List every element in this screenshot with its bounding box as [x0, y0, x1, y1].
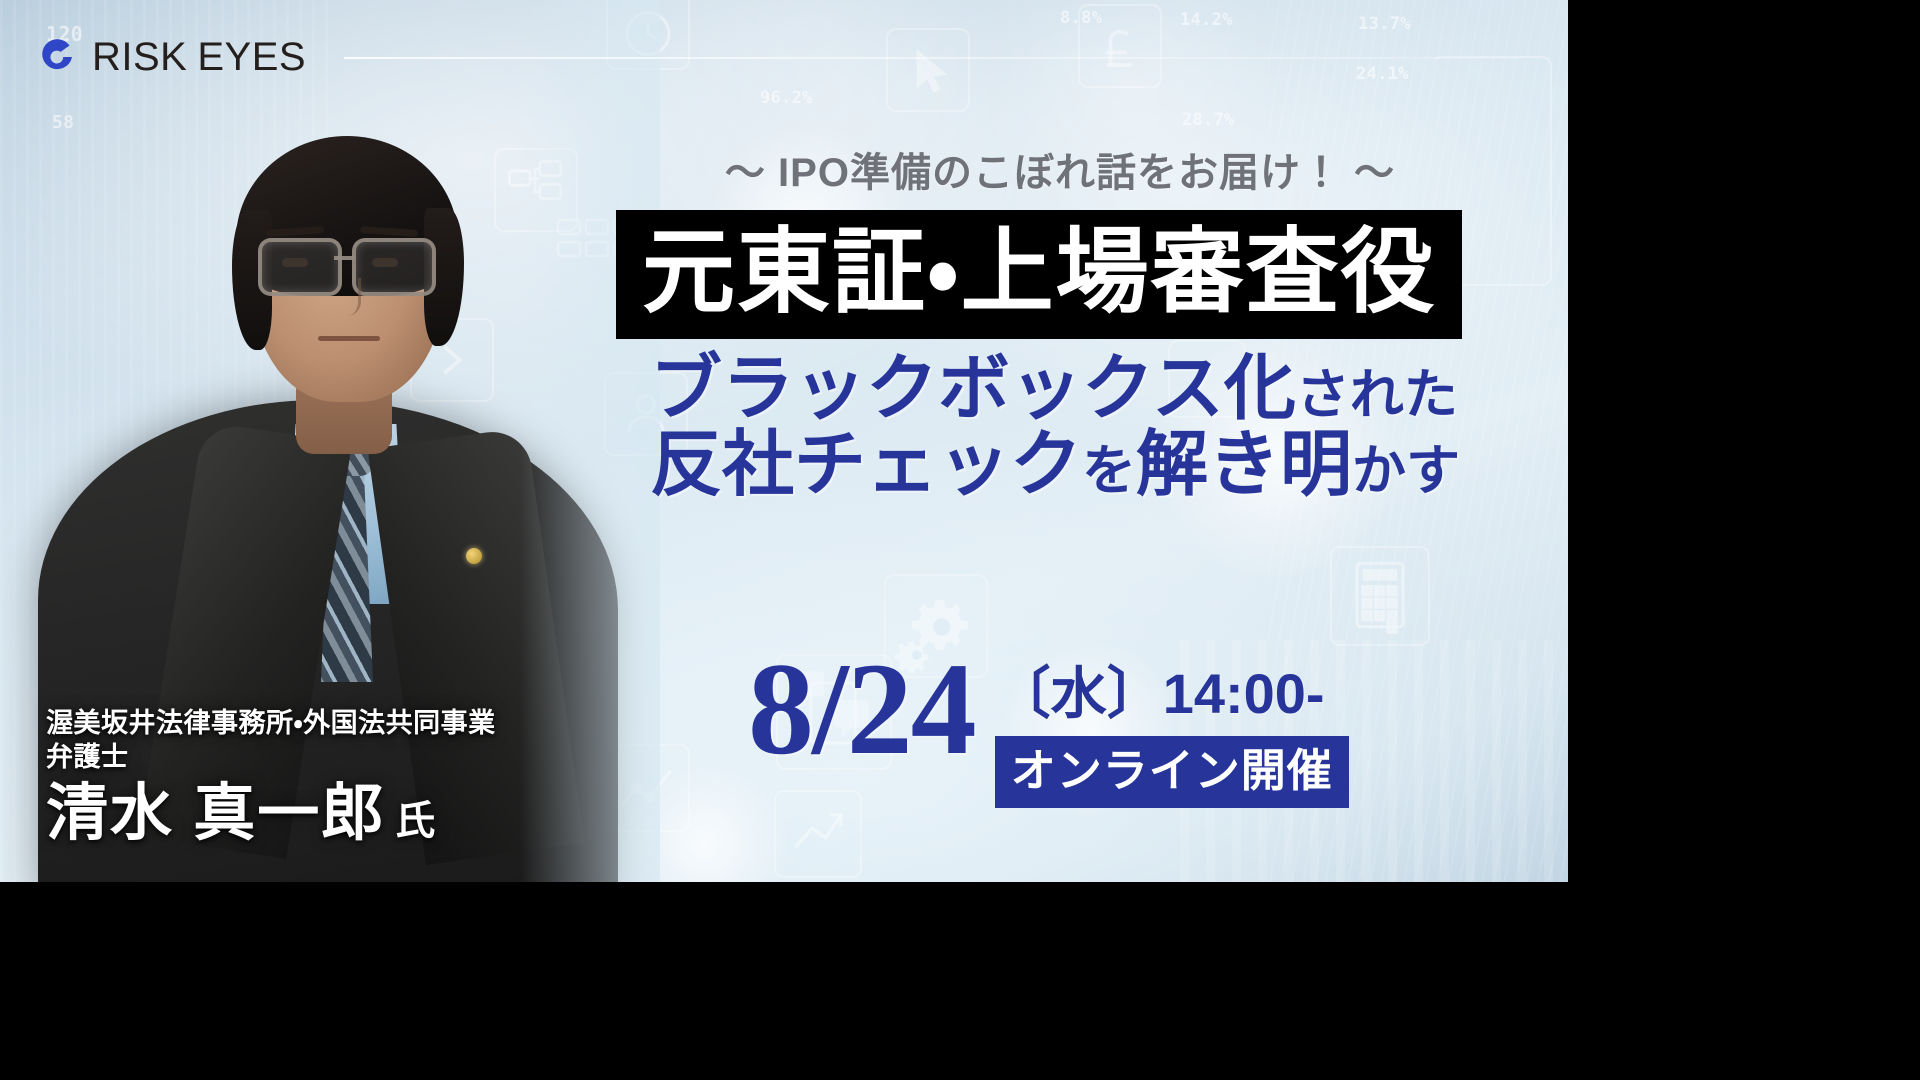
logo-word-risk: RISK — [92, 35, 187, 79]
subtitle-tokiaka-text: 解き明 — [1136, 425, 1352, 505]
portrait-eyeglass-bridge — [334, 256, 354, 260]
subtitle-sareta-text: された — [1296, 365, 1458, 425]
speaker-name: 清水 真一郎 — [46, 779, 385, 848]
speaker-role: 弁護士 — [46, 740, 496, 775]
event-schedule: 8/24 〔水〕14:00- オンライン開催 — [748, 648, 1349, 808]
decor-number: 24.1% — [1356, 64, 1409, 84]
logo-wordmark: RISKEYES — [92, 37, 306, 77]
portrait-lapel-pin — [466, 548, 482, 564]
event-day-and-time: 〔水〕14:00- — [995, 666, 1349, 722]
headline-title-bar: 元東証・上場審査役 — [616, 210, 1462, 339]
decor-number: 28.7% — [1182, 110, 1235, 130]
subtitle-hansha-check-text: 反社チェック — [650, 425, 1082, 505]
speaker-honorific: 氏 — [395, 799, 437, 843]
webinar-banner: 120 58 96.2% 8.8% 14.2% 13.7% 24.1% 28.7… — [0, 0, 1568, 882]
event-time-group: 〔水〕14:00- オンライン開催 — [995, 648, 1349, 808]
subtitle-blackbox-text: ブラックボックス化 — [650, 349, 1296, 429]
speaker-credit: 渥美坂井法律事務所・外国法共同事業 弁護士 清水 真一郎氏 — [46, 706, 496, 846]
calculator-icon — [1330, 546, 1430, 646]
cursor-arrow-icon — [886, 28, 970, 112]
decor-number: 96.2% — [760, 88, 813, 108]
headline-subtitle: ブラックボックス化された 反社チェックを解き明かす — [650, 351, 1568, 504]
portrait-eyeglass-right — [352, 238, 436, 296]
headline-kicker: 〜 IPO準備のこぼれ話をお届け！ 〜 — [552, 140, 1568, 198]
risk-eyes-logo[interactable]: RISKEYES — [36, 36, 306, 78]
event-date: 8/24 — [748, 648, 975, 769]
decor-number: 13.7% — [1358, 14, 1411, 34]
subtitle-wo-text: を — [1082, 441, 1136, 501]
headline-group: 〜 IPO準備のこぼれ話をお届け！ 〜 元東証・上場審査役 ブラックボックス化さ… — [500, 140, 1568, 504]
decor-number: 14.2% — [1180, 10, 1233, 30]
headline-subtitle-line-1: ブラックボックス化された — [650, 351, 1568, 427]
logo-word-eyes: EYES — [197, 35, 306, 79]
subtitle-kasu-text: かす — [1352, 441, 1460, 501]
speaker-firm: 渥美坂井法律事務所・外国法共同事業 — [46, 706, 496, 741]
speaker-name-group: 清水 真一郎氏 — [46, 781, 496, 846]
risk-eyes-circle-mark — [36, 36, 78, 78]
portrait-mouth — [318, 336, 380, 341]
online-format-badge: オンライン開催 — [995, 736, 1349, 808]
headline-subtitle-line-2: 反社チェックを解き明かす — [650, 427, 1568, 503]
decor-number: 8.8% — [1060, 8, 1102, 28]
portrait-nose — [338, 278, 361, 316]
portrait-eyeglass-left — [258, 238, 342, 296]
logo-divider-line — [344, 57, 1524, 59]
